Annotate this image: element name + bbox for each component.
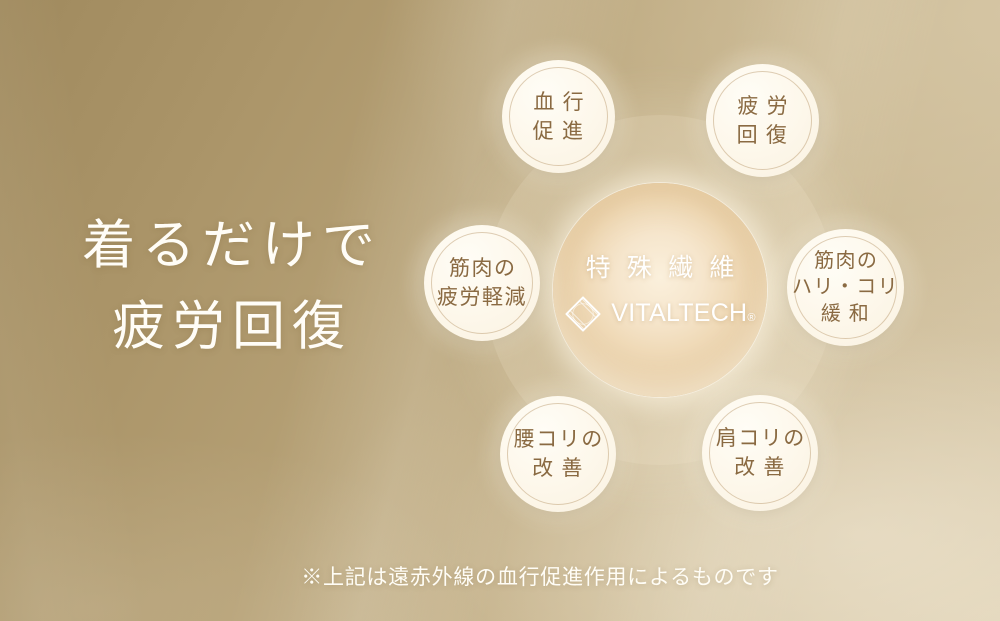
- benefit-label-line: 促 進: [533, 119, 585, 143]
- benefit-label: 血 行 促 進: [532, 88, 585, 146]
- core-content: 特 殊 繊 維: [553, 183, 767, 397]
- benefit-label: 筋肉の ハリ・コリ 緩 和: [792, 248, 899, 327]
- benefit-label-line: 改 善: [734, 455, 786, 479]
- footnote: ※上記は遠赤外線の血行促進作用によるものです: [0, 561, 1000, 591]
- benefit-label: 腰コリの 改 善: [512, 425, 603, 483]
- benefit-bubble-muscle-stiffness[interactable]: 筋肉の ハリ・コリ 緩 和: [787, 229, 904, 346]
- benefit-bubble-blood-circulation[interactable]: 血 行 促 進: [502, 60, 615, 173]
- benefit-label-line: 緩 和: [821, 303, 870, 325]
- brand-name: VITALTECH®: [611, 299, 755, 328]
- woven-diamond-logo-icon: [564, 295, 602, 333]
- benefit-bubble-lower-back-relief[interactable]: 腰コリの 改 善: [500, 396, 616, 512]
- benefit-label-line: ハリ・コリ: [792, 276, 899, 298]
- benefit-label-line: 改 善: [532, 456, 584, 480]
- benefit-label: 筋肉の 疲労軽減: [437, 254, 527, 312]
- benefit-label-line: 疲 労: [737, 94, 789, 118]
- benefit-label: 疲 労 回 復: [736, 92, 789, 150]
- benefit-label-line: 疲労軽減: [437, 285, 527, 309]
- benefit-label-line: 肩コリの: [716, 426, 806, 450]
- benefit-bubble-shoulder-relief[interactable]: 肩コリの 改 善: [702, 395, 818, 511]
- brand-lockup: VITALTECH®: [564, 295, 755, 333]
- benefit-label-line: 回 復: [737, 123, 789, 147]
- benefit-label-line: 血 行: [533, 90, 585, 114]
- benefit-label-line: 腰コリの: [514, 427, 604, 451]
- benefit-bubble-fatigue-recovery[interactable]: 疲 労 回 復: [706, 64, 819, 177]
- benefit-label-line: 筋肉の: [814, 250, 878, 272]
- benefit-label-line: 筋肉の: [449, 256, 516, 280]
- benefits-diagram: 特 殊 繊 維: [0, 0, 1000, 621]
- registered-mark: ®: [747, 312, 755, 324]
- promo-banner: 着るだけで 疲労回復 特 殊 繊 維: [0, 0, 1000, 621]
- core-title: 特 殊 繊 維: [581, 248, 740, 284]
- benefit-bubble-muscle-fatigue[interactable]: 筋肉の 疲労軽減: [424, 225, 540, 341]
- brand-name-text: VITALTECH: [611, 299, 747, 327]
- benefit-label: 肩コリの 改 善: [714, 424, 805, 482]
